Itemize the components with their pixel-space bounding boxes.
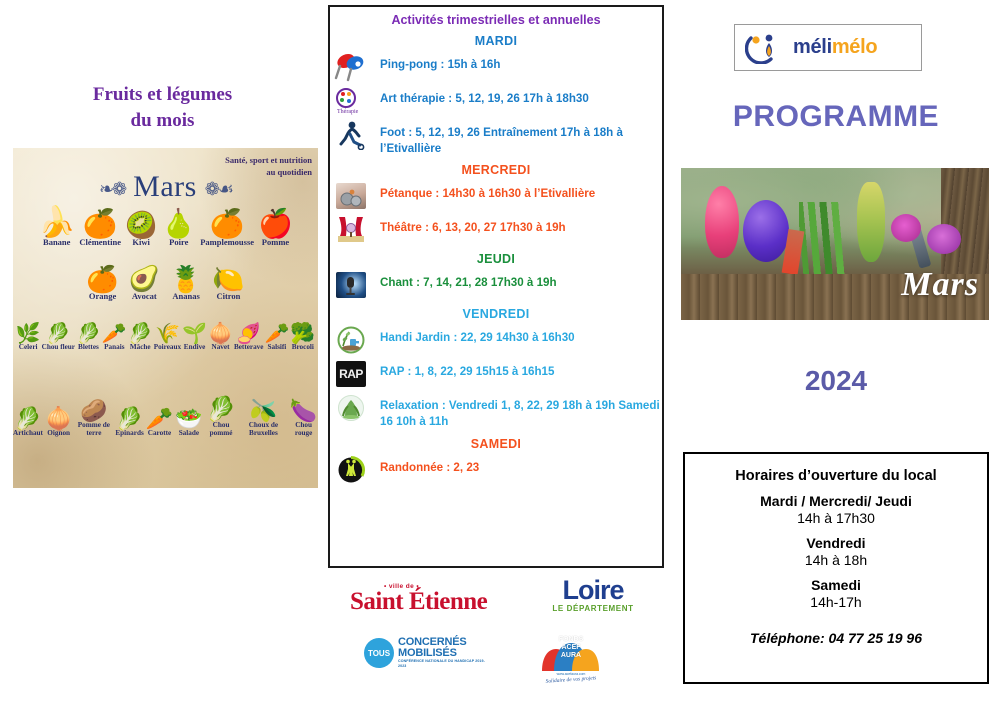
poster-produce-item: 🍐Poire	[161, 210, 196, 247]
activity-row: Théâtre : 6, 13, 20, 27 17h30 à 19h	[330, 215, 662, 245]
produce-glyph-icon: 🥕	[146, 408, 173, 430]
poster-produce-item: 🌿Celeri	[16, 324, 41, 352]
activity-text: RAP : 1, 8, 22, 29 15h15 à 16h15	[368, 359, 662, 380]
produce-glyph-icon: 🍆	[289, 400, 318, 422]
poster-produce-item: 🥕Carotte	[146, 408, 173, 438]
produce-label: Chou pommé	[205, 422, 238, 437]
produce-label: Pamplemousse	[200, 238, 254, 247]
activity-row: Pétanque : 14h30 à 16h30 à l’Etivallière	[330, 181, 662, 211]
flourish-left-icon: ❧❁	[99, 179, 125, 200]
produce-glyph-icon: 🌾	[154, 324, 181, 344]
produce-label: Salade	[175, 430, 202, 438]
poster-row-1: 🍌Banane🍊Clémentine🥝Kiwi🍐Poire🍊Pamplemous…	[13, 208, 318, 247]
produce-label: Mâche	[128, 344, 153, 352]
day-header-vendredi: VENDREDI	[330, 307, 662, 321]
poster-produce-item: 🍠Betterave	[234, 324, 264, 352]
produce-label: Blettes	[76, 344, 101, 352]
activity-text: Théâtre : 6, 13, 20, 27 17h30 à 19h	[368, 215, 662, 236]
relaxation-icon	[334, 393, 368, 423]
produce-glyph-icon: 🥬	[128, 324, 153, 344]
activity-row: ThérapieArt thérapie : 5, 12, 19, 26 17h…	[330, 86, 662, 116]
day-header-mercredi: MERCREDI	[330, 163, 662, 177]
sponsor-logos: • ville de • Saint Étienne Loire LE DÉPA…	[328, 575, 664, 693]
poster-produce-item: 🍌Banane	[38, 208, 75, 247]
poster-produce-item: 🌾Poireaux	[154, 324, 181, 352]
page-title-fruits: Fruits et légumes du mois	[0, 82, 325, 133]
photo-magenta-flower-2	[927, 224, 961, 254]
poster-produce-item: 🫒Choux de Bruxelles	[240, 400, 288, 437]
programme-column: mélimélo PROGRAMME Mars 2024 Horaires d’…	[672, 0, 1000, 707]
poster-produce-item: 🥔Pomme de terre	[74, 400, 113, 437]
day-header-jeudi: JEUDI	[330, 252, 662, 266]
poster-produce-item: 🥕Salsifi	[264, 324, 289, 352]
spring-garden-photo: Mars	[681, 168, 989, 320]
produce-label: Artichaut	[13, 430, 43, 438]
produce-glyph-icon: 🍋	[212, 266, 244, 292]
poster-produce-item: 🍎Pomme	[258, 210, 293, 247]
rap-icon: RAP	[334, 359, 368, 389]
produce-glyph-icon: 🥬	[42, 324, 75, 344]
activity-row: Foot : 5, 12, 19, 26 Entraînement 17h à …	[330, 120, 662, 156]
poster-produce-item: 🍆Chou rouge	[289, 400, 318, 437]
ping-pong-icon	[334, 52, 368, 82]
produce-label: Clémentine	[79, 238, 121, 247]
hours-time: 14h-17h	[685, 594, 987, 610]
hours-days: Mardi / Mercredi/ Jeudi	[685, 493, 987, 509]
photo-magenta-flower-1	[891, 214, 921, 242]
activities-panel: Activités trimestrielles et annuelles MA…	[328, 5, 664, 568]
activities-title: Activités trimestrielles et annuelles	[330, 13, 662, 27]
handi-jardin-icon	[334, 325, 368, 355]
produce-glyph-icon: 🍍	[170, 266, 202, 292]
produce-glyph-icon: 🥑	[129, 267, 160, 292]
theatre-icon	[334, 215, 368, 245]
produce-glyph-icon: 🥦	[290, 324, 315, 344]
activity-row: Chant : 7, 14, 21, 28 17h30 à 19h	[330, 270, 662, 300]
concernes-mobilises-text: CONCERNÉS MOBILISÉS CONFÉRENCE NATIONALE…	[398, 637, 488, 670]
produce-label: Chou fleur	[42, 344, 75, 352]
poster-produce-item: 🥬Chou fleur	[42, 324, 75, 352]
poster-produce-item: 🍊Pamplemousse	[200, 210, 254, 247]
poster-row-items: 🍌Banane🍊Clémentine🥝Kiwi🍐Poire🍊Pamplemous…	[13, 208, 318, 247]
phone-line: Téléphone: 04 77 25 19 96	[685, 630, 987, 646]
fruits-vegetables-column: Fruits et légumes du mois Santé, sport e…	[0, 0, 325, 707]
produce-glyph-icon: 🍊	[79, 210, 121, 238]
poster-produce-item: 🥬Artichaut	[13, 408, 43, 438]
produce-glyph-icon: 🧅	[208, 324, 233, 344]
concernes-line3: CONFÉRENCE NATIONALE DU HANDICAP 2019-20…	[398, 659, 488, 669]
day-header-mardi: MARDI	[330, 34, 662, 48]
opening-hours-rows: Mardi / Mercredi/ Jeudi14h à 17h30Vendre…	[685, 493, 987, 610]
photo-month-caption: Mars	[901, 266, 979, 304]
produce-label: Choux de Bruxelles	[240, 422, 288, 437]
produce-label: Chou rouge	[289, 422, 318, 437]
produce-label: Banane	[38, 238, 75, 247]
melimelo-figures-icon	[745, 32, 787, 64]
poster-produce-item: 🥬Chou pommé	[205, 398, 238, 437]
produce-glyph-icon: 🥬	[205, 398, 238, 422]
art-therapie-icon: Thérapie	[334, 86, 368, 116]
opening-hours-box: Horaires d’ouverture du local Mardi / Me…	[683, 452, 989, 684]
poster-month-label: Mars	[133, 170, 197, 203]
produce-label: Pomme de terre	[74, 422, 113, 437]
poster-row-2: 🍊Orange🥑Avocat🍍Ananas🍋Citron	[13, 266, 318, 301]
produce-label: Panais	[102, 344, 127, 352]
programme-title: PROGRAMME	[672, 100, 1000, 134]
year-label: 2024	[672, 365, 1000, 397]
produce-glyph-icon: 🍎	[258, 210, 293, 238]
poster-produce-item: 🥦Brocoli	[290, 324, 315, 352]
produce-glyph-icon: 🥬	[115, 408, 143, 430]
poster-tagline-line1: Santé, sport et nutrition	[192, 154, 312, 166]
melimelo-wordmark: mélimélo	[793, 36, 877, 59]
loire-subtitle: LE DÉPARTEMENT	[533, 604, 653, 613]
produce-label: Celeri	[16, 344, 41, 352]
acef-mark-icon: FONDS ACEF AURA	[536, 631, 606, 671]
poster-row-items: 🥬Artichaut🧅Oignon🥔Pomme de terre🥬Epinard…	[13, 398, 318, 437]
fruits-heading-line1: Fruits et légumes	[93, 84, 232, 105]
foot-icon	[334, 120, 368, 150]
petanque-icon	[334, 181, 368, 211]
produce-label: Epinards	[115, 430, 143, 438]
produce-glyph-icon: 🥬	[76, 324, 101, 344]
produce-label: Poireaux	[154, 344, 181, 352]
poster-produce-item: 🌱Endive	[182, 324, 207, 352]
produce-label: Poire	[161, 238, 196, 247]
activity-text: Randonnée : 2, 23	[368, 455, 662, 476]
produce-label: Avocat	[129, 292, 160, 301]
poster-produce-item: 🍍Ananas	[170, 266, 202, 301]
produce-label: Pomme	[258, 238, 293, 247]
poster-produce-item: 🥬Epinards	[115, 408, 143, 438]
activity-row: Relaxation : Vendredi 1, 8, 22, 29 18h à…	[330, 393, 662, 429]
produce-glyph-icon: 🍠	[234, 324, 264, 344]
produce-label: Salsifi	[264, 344, 289, 352]
poster-produce-item: 🥕Panais	[102, 324, 127, 352]
melimelo-meli: méli	[793, 36, 832, 58]
produce-label: Endive	[182, 344, 207, 352]
activity-text: Foot : 5, 12, 19, 26 Entraînement 17h à …	[368, 120, 662, 156]
photo-yellow-bloom	[857, 182, 885, 262]
produce-glyph-icon: 🥬	[13, 408, 43, 430]
acef-text-block: FONDS ACEF AURA	[536, 636, 606, 660]
produce-glyph-icon: 🍊	[200, 210, 254, 238]
poster-month-title: ❧❁ Mars ❁☙	[13, 170, 318, 204]
produce-glyph-icon: 🥕	[102, 324, 127, 344]
produce-glyph-icon: 🧅	[45, 408, 72, 430]
concernes-mobilises-logo: TOUS CONCERNÉS MOBILISÉS CONFÉRENCE NATI…	[364, 637, 488, 670]
concernes-line2: MOBILISÉS	[398, 648, 488, 659]
chant-icon	[334, 270, 368, 300]
photo-green-shoots	[799, 202, 851, 278]
poster-produce-item: 🍋Citron	[212, 266, 244, 301]
activity-text: Ping-pong : 15h à 16h	[368, 52, 662, 73]
poster-row-items: 🌿Celeri🥬Chou fleur🥬Blettes🥕Panais🥬Mâche🌾…	[13, 324, 318, 352]
opening-hours-title: Horaires d’ouverture du local	[685, 468, 987, 484]
activity-text: Art thérapie : 5, 12, 19, 26 17h à 18h30	[368, 86, 662, 107]
activity-text: Handi Jardin : 22, 29 14h30 à 16h30	[368, 325, 662, 346]
acef-line2: ACEF	[536, 644, 606, 652]
day-header-samedi: SAMEDI	[330, 437, 662, 451]
produce-glyph-icon: 🥗	[175, 408, 202, 430]
photo-purple-hyacinth	[743, 200, 789, 262]
acef-line1: FONDS	[536, 636, 606, 644]
activity-row: Handi Jardin : 22, 29 14h30 à 16h30	[330, 325, 662, 355]
activity-text: Pétanque : 14h30 à 16h30 à l’Etivallière	[368, 181, 662, 202]
fruits-heading-line2: du mois	[0, 108, 325, 134]
randonnee-icon	[334, 455, 368, 485]
flourish-right-icon: ❁☙	[205, 179, 232, 200]
loire-wordmark: Loire	[533, 577, 653, 604]
produce-glyph-icon: 🥝	[125, 212, 157, 238]
produce-glyph-icon: 🍊	[86, 266, 118, 292]
poster-produce-item: 🍊Orange	[86, 266, 118, 301]
saint-etienne-wordmark: Saint Étienne	[350, 590, 510, 614]
mars-seasonal-poster: Santé, sport et nutrition au quotidien ❧…	[13, 148, 318, 488]
activities-days-list: MARDI Ping-pong : 15h à 16h ThérapieArt …	[330, 34, 662, 485]
poster-produce-item: 🧅Navet	[208, 324, 233, 352]
poster-produce-item: 🥬Blettes	[76, 324, 101, 352]
tous-badge-icon: TOUS	[364, 638, 394, 668]
hours-days: Vendredi	[685, 535, 987, 551]
produce-glyph-icon: 🍌	[38, 208, 75, 238]
produce-label: Betterave	[234, 344, 264, 352]
svg-text:Thérapie: Thérapie	[337, 109, 359, 115]
poster-row-3: 🌿Celeri🥬Chou fleur🥬Blettes🥕Panais🥬Mâche🌾…	[13, 324, 318, 352]
hours-time: 14h à 17h30	[685, 510, 987, 526]
loire-departement-logo: Loire LE DÉPARTEMENT	[533, 577, 653, 613]
melimelo-logo: mélimélo	[734, 24, 922, 71]
poster-produce-item: 🥑Avocat	[129, 267, 160, 301]
activity-row: Ping-pong : 15h à 16h	[330, 52, 662, 82]
melimelo-melo: mélo	[832, 36, 877, 58]
activity-text: Chant : 7, 14, 21, 28 17h30 à 19h	[368, 270, 662, 291]
poster-produce-item: 🧅Oignon	[45, 408, 72, 438]
activity-row: Randonnée : 2, 23	[330, 455, 662, 485]
produce-label: Navet	[208, 344, 233, 352]
poster-produce-item: 🍊Clémentine	[79, 210, 121, 247]
poster-produce-item: 🥝Kiwi	[125, 212, 157, 247]
fonds-acef-logo: FONDS ACEF AURA www.acefaura.com Solidai…	[526, 631, 616, 683]
acef-line3: AURA	[536, 652, 606, 660]
poster-row-4: 🥬Artichaut🧅Oignon🥔Pomme de terre🥬Epinard…	[13, 398, 318, 437]
produce-label: Carotte	[146, 430, 173, 438]
produce-glyph-icon: 🥔	[74, 400, 113, 422]
photo-pink-hyacinth	[705, 186, 739, 258]
poster-produce-item: 🥬Mâche	[128, 324, 153, 352]
produce-glyph-icon: 🥕	[264, 324, 289, 344]
hours-time: 14h à 18h	[685, 552, 987, 568]
hours-days: Samedi	[685, 577, 987, 593]
produce-label: Brocoli	[290, 344, 315, 352]
saint-etienne-logo: • ville de • Saint Étienne	[350, 583, 510, 614]
produce-glyph-icon: 🌱	[182, 324, 207, 344]
activity-text: Relaxation : Vendredi 1, 8, 22, 29 18h à…	[368, 393, 662, 429]
poster-row-items: 🍊Orange🥑Avocat🍍Ananas🍋Citron	[13, 266, 318, 301]
produce-glyph-icon: 🌿	[16, 324, 41, 344]
activity-row: RAPRAP : 1, 8, 22, 29 15h15 à 16h15	[330, 359, 662, 389]
produce-glyph-icon: 🍐	[161, 210, 196, 238]
poster-produce-item: 🥗Salade	[175, 408, 202, 438]
produce-glyph-icon: 🫒	[240, 400, 288, 422]
